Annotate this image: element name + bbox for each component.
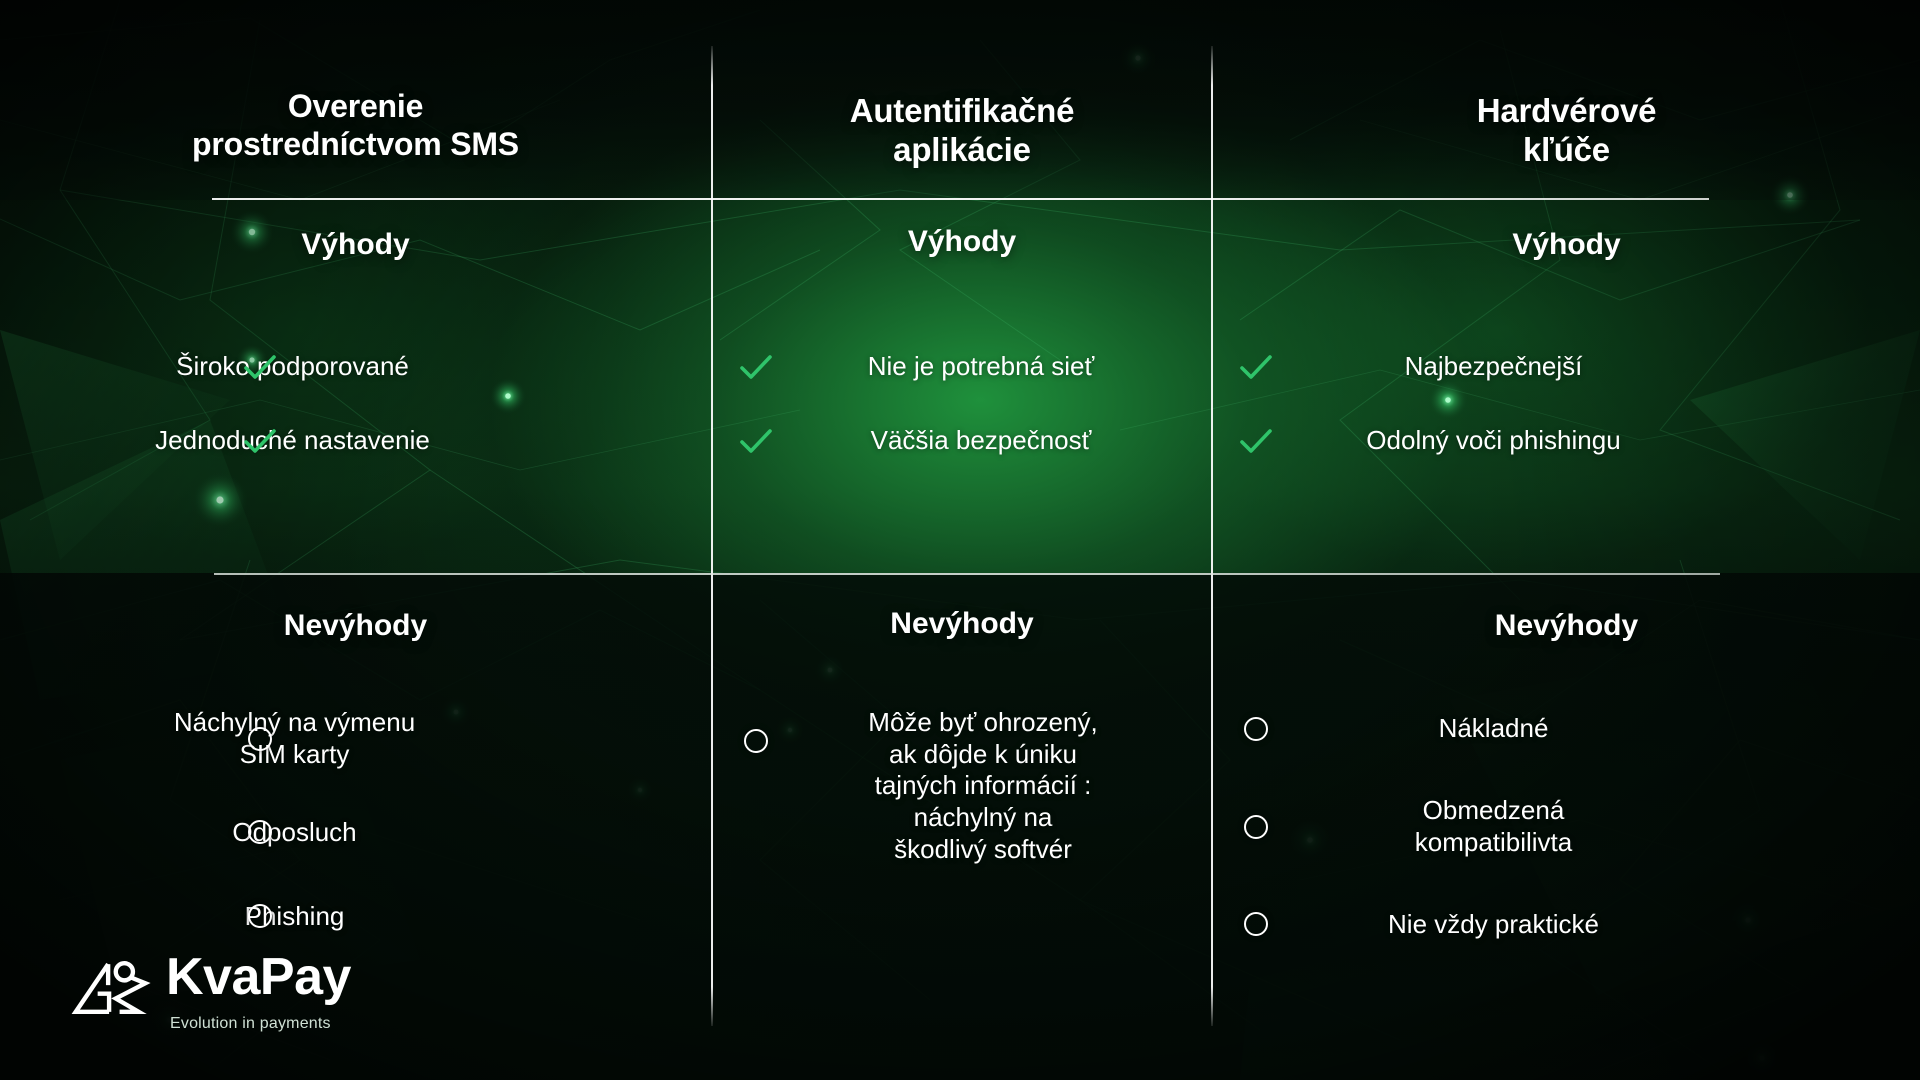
comparison-infographic: Overenie prostredníctvom SMS Výhody Širo… — [0, 0, 1920, 1080]
brand-wordmark: KvaPay — [166, 952, 351, 1003]
list-item: Jednoduché nastavenie — [0, 419, 711, 463]
check-icon — [240, 421, 280, 461]
list-item-label: Obmedzená kompatibilivta — [1213, 795, 1920, 858]
cons-list: Môže byť ohrozený, ak dôjde k úniku tajn… — [713, 707, 1211, 894]
list-item: Nákladné — [1213, 707, 1920, 751]
pros-list: Najbezpečnejší Odolný voči phishingu — [1213, 345, 1920, 493]
list-item: Väčšia bezpečnosť — [713, 419, 1211, 463]
column-header-title: Hardvérové kľúče — [1213, 92, 1920, 170]
cons-list: Náchylný na výmenu SIM karty Odposluch P… — [0, 707, 711, 978]
check-icon — [736, 347, 776, 387]
circle-bullet-icon — [1236, 904, 1276, 944]
list-item: Nie je potrebná sieť — [713, 345, 1211, 389]
list-item-label: Nákladné — [1213, 713, 1920, 745]
list-item-label: Široko podporované — [0, 351, 711, 383]
list-item: Široko podporované — [0, 345, 711, 389]
cons-list: Nákladné Obmedzená kompatibilivta Nie vž… — [1213, 707, 1920, 990]
list-item: Náchylný na výmenu SIM karty — [0, 707, 711, 770]
column-hardware-keys: Hardvérové kľúče Výhody Najbezpečnejší O… — [1213, 0, 1920, 1080]
pros-section-title: Výhody — [1213, 228, 1920, 262]
circle-bullet-icon — [240, 812, 280, 852]
cons-section-title: Nevýhody — [0, 609, 711, 643]
column-authenticator-apps: Autentifikačné aplikácie Výhody Nie je p… — [713, 0, 1211, 1080]
check-icon — [240, 347, 280, 387]
list-item-label: Odposluch — [0, 817, 711, 849]
list-item: Obmedzená kompatibilivta — [1213, 795, 1920, 858]
list-item: Odposluch — [0, 810, 711, 854]
list-item: Phishing — [0, 894, 711, 938]
list-item-label: Najbezpečnejší — [1213, 351, 1920, 383]
pros-section-title: Výhody — [713, 225, 1211, 259]
circle-bullet-icon — [240, 896, 280, 936]
list-item: Najbezpečnejší — [1213, 345, 1920, 389]
check-icon — [1236, 421, 1276, 461]
column-header-title: Autentifikačné aplikácie — [713, 92, 1211, 170]
cons-section-title: Nevýhody — [713, 607, 1211, 641]
circle-bullet-icon — [1236, 709, 1276, 749]
column-header-title: Overenie prostredníctvom SMS — [0, 88, 711, 164]
pros-list: Široko podporované Jednoduché nastavenie — [0, 345, 711, 493]
pros-section-title: Výhody — [0, 228, 711, 262]
circle-bullet-icon — [736, 721, 776, 761]
list-item-label: Phishing — [0, 901, 711, 933]
list-item-label: Väčšia bezpečnosť — [713, 425, 1211, 457]
cons-section-title: Nevýhody — [1213, 609, 1920, 643]
list-item: Môže byť ohrozený, ak dôjde k úniku tajn… — [713, 707, 1211, 866]
list-item-label: Nie vždy praktické — [1213, 909, 1920, 941]
list-item-label: Odolný voči phishingu — [1213, 425, 1920, 457]
list-item-label: Nie je potrebná sieť — [713, 351, 1211, 383]
column-sms-verification: Overenie prostredníctvom SMS Výhody Širo… — [0, 0, 711, 1080]
brand-tagline: Evolution in payments — [170, 1015, 351, 1033]
check-icon — [736, 421, 776, 461]
brand-logo: KvaPay Evolution in payments — [70, 952, 351, 1033]
circle-bullet-icon — [1236, 807, 1276, 847]
check-icon — [1236, 347, 1276, 387]
list-item-label: Môže byť ohrozený, ak dôjde k úniku tajn… — [713, 707, 1211, 866]
pros-list: Nie je potrebná sieť Väčšia bezpečnosť — [713, 345, 1211, 493]
kvapay-logo-mark-icon — [70, 956, 152, 1020]
circle-bullet-icon — [240, 719, 280, 759]
list-item: Odolný voči phishingu — [1213, 419, 1920, 463]
list-item-label: Jednoduché nastavenie — [0, 425, 711, 457]
list-item: Nie vždy praktické — [1213, 902, 1920, 946]
list-item-label: Náchylný na výmenu SIM karty — [0, 707, 711, 770]
